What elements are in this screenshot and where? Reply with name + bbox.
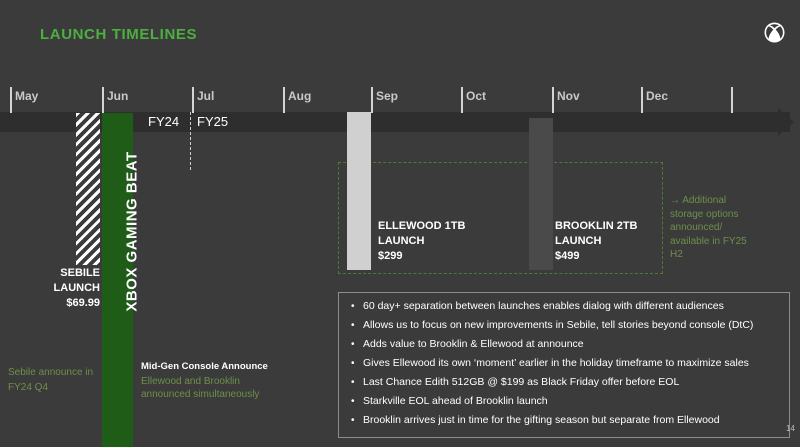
- ellewood-callout-price: $299: [378, 249, 465, 264]
- xbox-logo-icon: [764, 22, 785, 43]
- xbox-gaming-beat-bar: XBOX GAMING BEAT: [102, 113, 133, 447]
- month-tick-may: [10, 87, 12, 113]
- month-label-nov: Nov: [557, 89, 580, 103]
- mid-gen-announce-subtext: Ellewood and Brooklin announced simultan…: [141, 375, 281, 401]
- brooklin-callout-price: $499: [555, 249, 638, 264]
- xbox-gaming-beat-label: XBOX GAMING BEAT: [124, 82, 141, 382]
- sebile-callout-line2: LAUNCH: [0, 281, 100, 296]
- list-item: 60 day+ separation between launches enab…: [349, 300, 779, 313]
- month-tick-nov: [552, 87, 554, 113]
- additional-storage-note: → Additional storage options announced/ …: [670, 194, 750, 262]
- month-tick-oct: [461, 87, 463, 113]
- ellewood-launch-callout: ELLEWOOD 1TB LAUNCH $299: [378, 219, 465, 264]
- page-number: 14: [786, 424, 795, 433]
- month-tick-sep: [371, 87, 373, 113]
- month-label-aug: Aug: [288, 89, 311, 103]
- page-title: LAUNCH TIMELINES: [40, 26, 197, 43]
- timeline-axis-arrow: [778, 108, 794, 136]
- sebile-callout-price: $69.99: [0, 296, 100, 311]
- month-tick-dec: [641, 87, 643, 113]
- month-label-dec: Dec: [646, 89, 668, 103]
- list-item: Allows us to focus on new improvements i…: [349, 319, 779, 332]
- month-tick-aug: [283, 87, 285, 113]
- month-label-oct: Oct: [466, 89, 486, 103]
- fiscal-year-label-fy25: FY25: [197, 114, 228, 129]
- month-label-jul: Jul: [197, 89, 214, 103]
- mid-gen-announce-header: Mid-Gen Console Announce: [141, 360, 281, 373]
- list-item: Brooklin arrives just in time for the gi…: [349, 414, 779, 427]
- sebile-launch-callout: SEBILE LAUNCH $69.99: [0, 266, 100, 311]
- month-tick-end: [731, 87, 733, 113]
- month-label-sep: Sep: [376, 89, 398, 103]
- list-item: Gives Ellewood its own ‘moment’ earlier …: [349, 357, 779, 370]
- month-label-may: May: [15, 89, 38, 103]
- brooklin-callout-line1: BROOKLIN 2TB: [555, 219, 638, 234]
- brooklin-callout-line2: LAUNCH: [555, 234, 638, 249]
- key-points-list: 60 day+ separation between launches enab…: [349, 300, 779, 427]
- brooklin-launch-callout: BROOKLIN 2TB LAUNCH $499: [555, 219, 638, 264]
- month-tick-jun: [102, 87, 104, 113]
- ellewood-launch-bar: [347, 112, 371, 270]
- slide-canvas: LAUNCH TIMELINES May Jun Jul Aug Sep Oct…: [0, 0, 800, 447]
- mid-gen-announce-note: Mid-Gen Console Announce Ellewood and Br…: [141, 360, 281, 401]
- key-points-panel: 60 day+ separation between launches enab…: [338, 292, 790, 438]
- list-item: Starkville EOL ahead of Brooklin launch: [349, 395, 779, 408]
- month-tick-jul: [192, 87, 194, 113]
- list-item: Last Chance Edith 512GB @ $199 as Black …: [349, 376, 779, 389]
- sebile-callout-line1: SEBILE: [0, 266, 100, 281]
- sebile-announce-note: Sebile announce in FY24 Q4: [8, 365, 103, 395]
- ellewood-callout-line2: LAUNCH: [378, 234, 465, 249]
- list-item: Adds value to Brooklin & Ellewood at ann…: [349, 338, 779, 351]
- fiscal-year-divider: [190, 112, 191, 170]
- ellewood-callout-line1: ELLEWOOD 1TB: [378, 219, 465, 234]
- sebile-hatched-bar: [76, 113, 100, 265]
- fiscal-year-label-fy24: FY24: [148, 114, 179, 129]
- brooklin-launch-bar: [529, 118, 553, 270]
